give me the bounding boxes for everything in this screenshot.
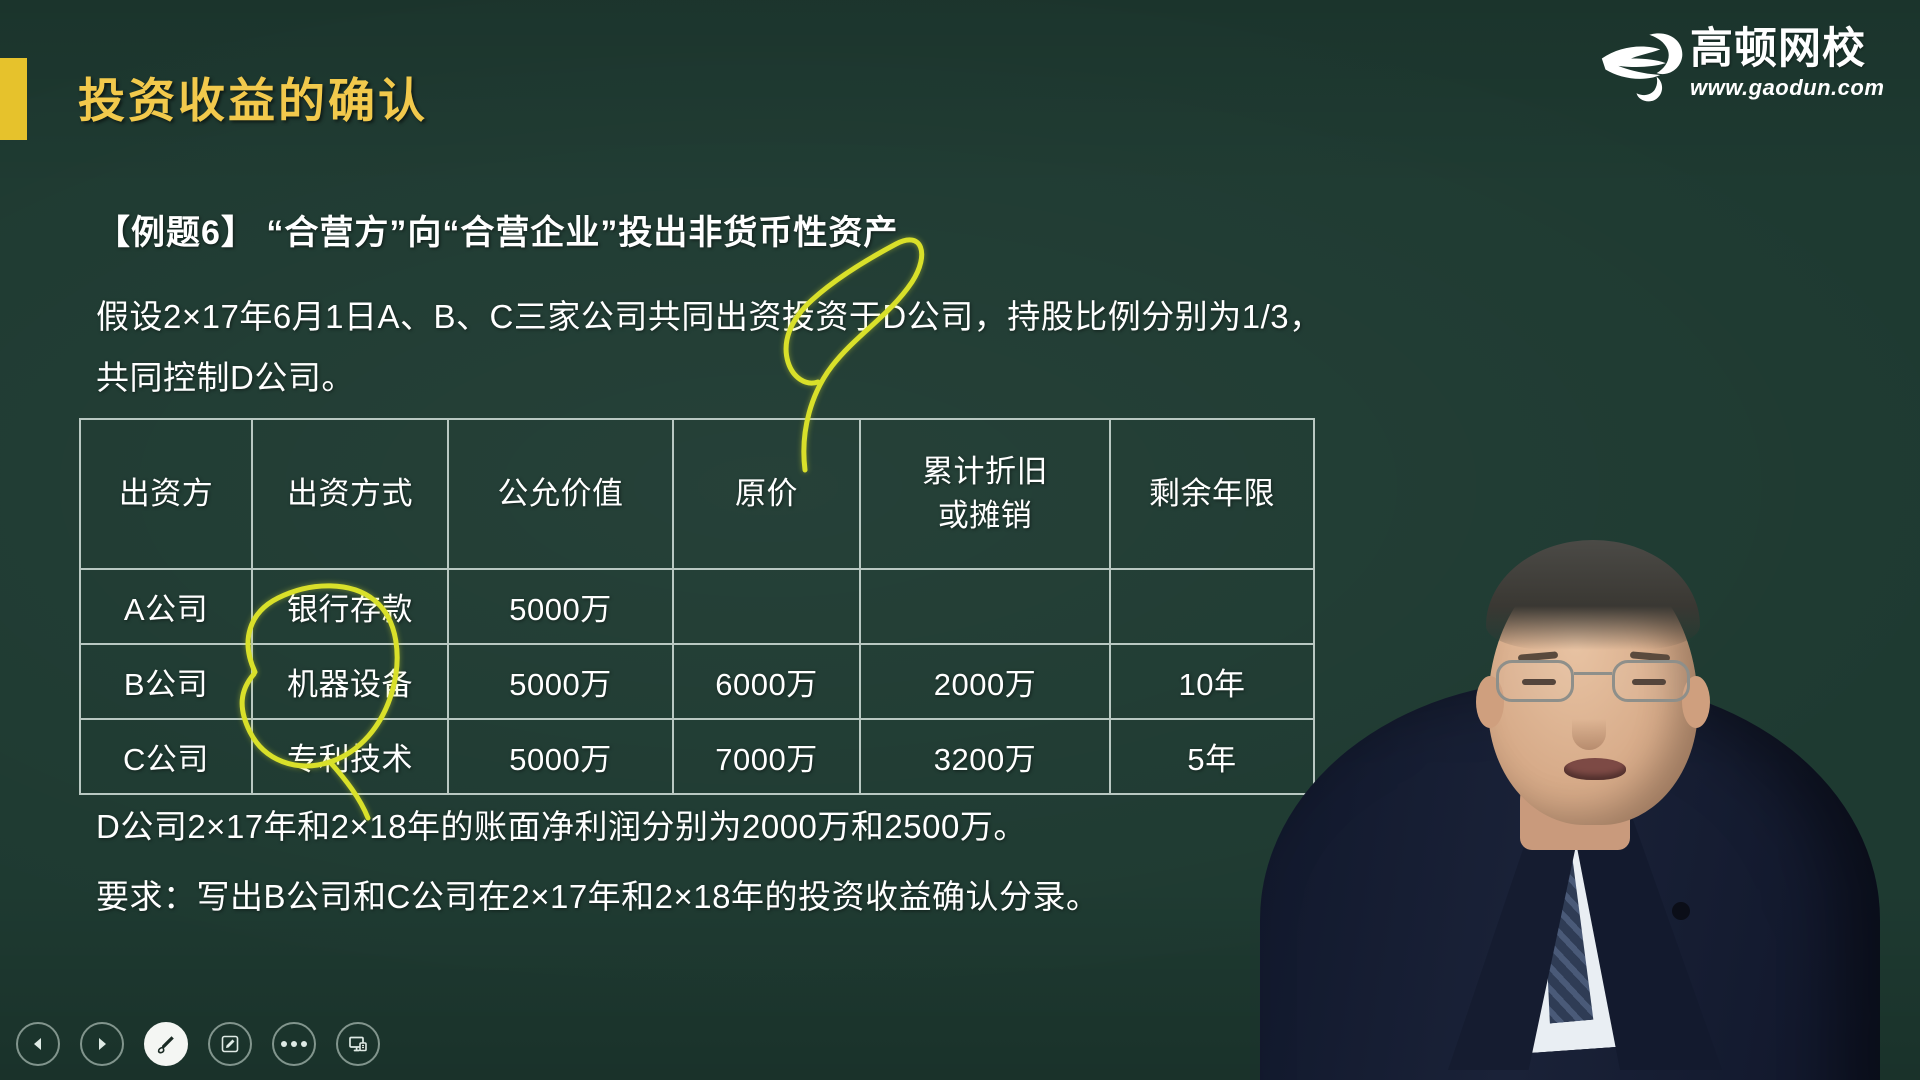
brand-logo: 高顿网校 www.gaodun.com [1596, 10, 1896, 118]
instructor-mouth [1564, 758, 1626, 780]
previous-slide-button[interactable] [16, 1022, 60, 1066]
logo-url: www.gaodun.com [1690, 75, 1884, 101]
lecture-slide-screen: 投资收益的确认 高顿网校 www.gaodun.com 【例题6】 “合营方”向… [0, 0, 1920, 1080]
pen-square-icon [219, 1033, 241, 1055]
gaodun-bird-icon [1596, 22, 1688, 106]
footer-line-1: D公司2×17年和2×18年的账面净利润分别为2000万和2500万。 [96, 800, 1027, 848]
footer-line-2: 要求：写出B公司和C公司在2×17年和2×18年的投资收益确认分录。 [96, 870, 1100, 918]
cell-fair-value: 5000万 [448, 644, 673, 719]
cell-method: 专利技术 [252, 719, 448, 794]
cell-contributor: C公司 [80, 719, 252, 794]
next-slide-button[interactable] [80, 1022, 124, 1066]
player-toolbar[interactable] [16, 1022, 380, 1066]
col-header-original-price: 原价 [673, 419, 860, 569]
cell-method: 机器设备 [252, 644, 448, 719]
cell-accumulated-depreciation: 3200万 [860, 719, 1110, 794]
more-options-button[interactable] [272, 1022, 316, 1066]
pen-icon [155, 1033, 177, 1055]
col-header-accumulated-depreciation: 累计折旧 或摊销 [860, 419, 1110, 569]
contribution-table: 出资方 出资方式 公允价值 原价 累计折旧 或摊销 剩余年限 A公司 银行存款 … [79, 418, 1315, 795]
ellipsis-icon [281, 1041, 307, 1047]
table-row: A公司 银行存款 5000万 [80, 569, 1314, 644]
col-header-fair-value: 公允价值 [448, 419, 673, 569]
cell-contributor: B公司 [80, 644, 252, 719]
table-row: C公司 专利技术 5000万 7000万 3200万 5年 [80, 719, 1314, 794]
lapel-microphone-icon [1672, 902, 1690, 920]
cell-original-price: 7000万 [673, 719, 860, 794]
col-header-contributor: 出资方 [80, 419, 252, 569]
pointer-tool-button[interactable] [208, 1022, 252, 1066]
cell-method: 银行存款 [252, 569, 448, 644]
cell-original-price: 6000万 [673, 644, 860, 719]
col-header-line1: 累计折旧 [861, 450, 1109, 494]
triangle-right-icon [93, 1035, 111, 1053]
pen-tool-button[interactable] [144, 1022, 188, 1066]
example-title: 【例题6】 “合营方”向“合营企业”投出非货币性资产 [96, 205, 898, 254]
col-header-line2: 或摊销 [861, 494, 1109, 538]
cell-accumulated-depreciation: 2000万 [860, 644, 1110, 719]
example-paragraph: 假设2×17年6月1日A、B、C三家公司共同出资投资于D公司，持股比例分别为1/… [96, 286, 1326, 408]
instructor-hair [1486, 540, 1700, 650]
table-header-row: 出资方 出资方式 公允价值 原价 累计折旧 或摊销 剩余年限 [80, 419, 1314, 569]
cell-fair-value: 5000万 [448, 569, 673, 644]
monitor-icon [347, 1033, 369, 1055]
logo-text-cn: 高顿网校 [1690, 28, 1884, 71]
page-title: 投资收益的确认 [78, 62, 428, 131]
table-row: B公司 机器设备 5000万 6000万 2000万 10年 [80, 644, 1314, 719]
triangle-left-icon [29, 1035, 47, 1053]
display-mode-button[interactable] [336, 1022, 380, 1066]
instructor-nose [1572, 698, 1606, 750]
cell-contributor: A公司 [80, 569, 252, 644]
cell-accumulated-depreciation [860, 569, 1110, 644]
cell-fair-value: 5000万 [448, 719, 673, 794]
cell-original-price [673, 569, 860, 644]
col-header-method: 出资方式 [252, 419, 448, 569]
title-accent-bar [0, 58, 27, 140]
instructor-video-overlay [1220, 460, 1920, 1080]
